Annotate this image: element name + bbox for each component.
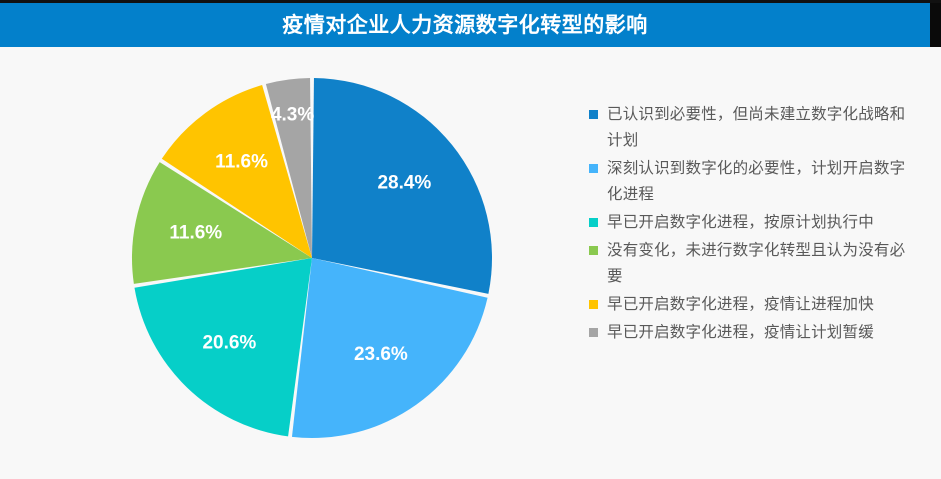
- legend-swatch-icon: [589, 300, 598, 309]
- page-title: 疫情对企业人力资源数字化转型的影响: [282, 15, 648, 36]
- chart-area: 28.4%23.6%20.6%11.6%11.6%4.3% 已认识到必要性，但尚…: [0, 47, 941, 479]
- legend-item[interactable]: 早已开启数字化进程，疫情让计划暂缓: [589, 320, 919, 346]
- legend-swatch-icon: [589, 218, 598, 227]
- legend-item[interactable]: 早已开启数字化进程，按原计划执行中: [589, 210, 919, 236]
- pie-slice-label: 11.6%: [169, 222, 222, 243]
- pie-slice-label: 11.6%: [215, 151, 268, 172]
- legend-item[interactable]: 早已开启数字化进程，疫情让进程加快: [589, 292, 919, 318]
- legend-item-label: 已认识到必要性，但尚未建立数字化战略和计划: [607, 102, 919, 154]
- legend-item[interactable]: 深刻认识到数字化的必要性，计划开启数字化进程: [589, 156, 919, 208]
- chart-canvas: 疫情对企业人力资源数字化转型的影响 28.4%23.6%20.6%11.6%11…: [0, 0, 941, 479]
- title-banner: 疫情对企业人力资源数字化转型的影响: [0, 3, 930, 47]
- pie-slice-label: 28.4%: [377, 172, 431, 193]
- legend-item[interactable]: 已认识到必要性，但尚未建立数字化战略和计划: [589, 102, 919, 154]
- legend-item-label: 早已开启数字化进程，按原计划执行中: [607, 210, 919, 236]
- pie-slice-group: [132, 78, 492, 438]
- legend-swatch-icon: [589, 164, 598, 173]
- legend-item-label: 早已开启数字化进程，疫情让进程加快: [607, 292, 919, 318]
- pie-slice-label: 20.6%: [202, 332, 256, 353]
- legend-item-label: 早已开启数字化进程，疫情让计划暂缓: [607, 320, 919, 346]
- pie-chart-svg: 28.4%23.6%20.6%11.6%11.6%4.3%: [132, 78, 492, 438]
- banner-tail-block: [930, 3, 941, 47]
- legend-item[interactable]: 没有变化，未进行数字化转型且认为没有必要: [589, 238, 919, 290]
- legend: 已认识到必要性，但尚未建立数字化战略和计划深刻认识到数字化的必要性，计划开启数字…: [589, 102, 919, 348]
- pie-slice-label: 4.3%: [271, 104, 314, 125]
- legend-swatch-icon: [589, 246, 598, 255]
- legend-swatch-icon: [589, 328, 598, 337]
- legend-item-label: 没有变化，未进行数字化转型且认为没有必要: [607, 238, 919, 290]
- pie-chart: 28.4%23.6%20.6%11.6%11.6%4.3%: [132, 78, 492, 438]
- legend-item-label: 深刻认识到数字化的必要性，计划开启数字化进程: [607, 156, 919, 208]
- pie-slice-label: 23.6%: [354, 344, 408, 365]
- legend-swatch-icon: [589, 110, 598, 119]
